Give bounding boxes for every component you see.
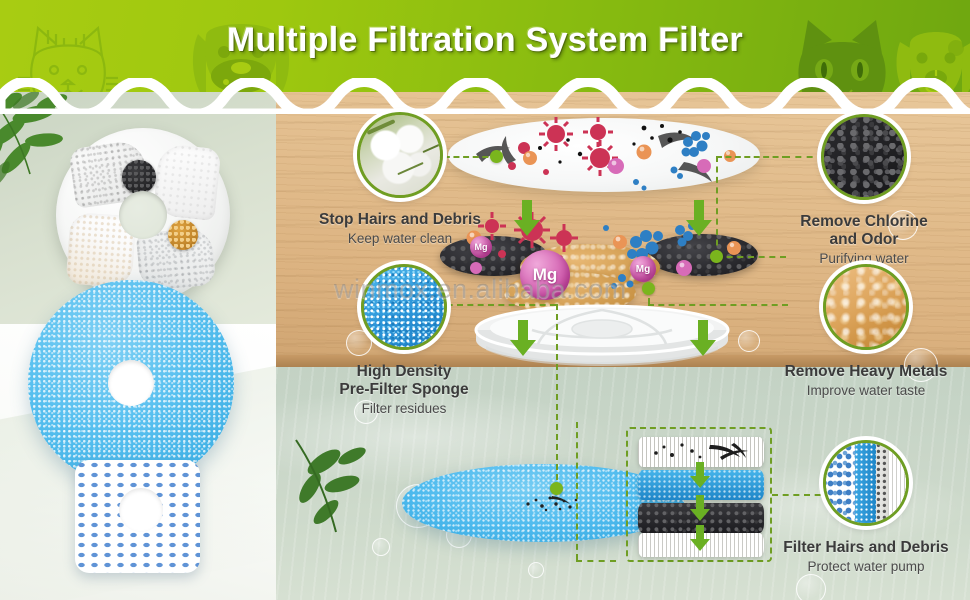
- flow-arrow-down-icon: [690, 320, 716, 356]
- connector-dot-mid-left: [550, 482, 563, 495]
- callout-subtitle: Protect water pump: [766, 559, 966, 575]
- callout-title: Filter Hairs and Debris: [766, 539, 966, 557]
- diagram-panel: Mg Mg Mg: [276, 92, 970, 600]
- pad-center-hole: [119, 488, 163, 532]
- infographic-root: Multiple Filtration System Filter: [0, 0, 970, 600]
- callout-remove-heavy-metals[interactable]: Remove Heavy Metals Improve water taste: [766, 264, 966, 399]
- wave-divider: [0, 78, 970, 114]
- filter-layers-icon: [823, 440, 909, 526]
- callout-title: High Density Pre-Filter Sponge: [304, 363, 504, 399]
- ion-resin-beads-icon: [823, 264, 909, 350]
- stack-arrow-icon: [690, 462, 710, 488]
- connector-bottom-left-v: [576, 422, 578, 560]
- blue-sponge-disc: [28, 280, 234, 486]
- round-filter-disc: [56, 128, 230, 302]
- filter-center-hole: [119, 191, 167, 239]
- cotton-fiber-icon: [357, 112, 443, 198]
- carbon-spot: [122, 160, 156, 194]
- sponge-center-hole: [108, 360, 154, 406]
- callout-title: Stop Hairs and Debris: [300, 211, 500, 229]
- product-photo-panel: [0, 92, 276, 600]
- resin-spot: [168, 220, 198, 250]
- stack-arrow-icon: [690, 495, 710, 521]
- callout-title: Remove Chlorine and Odor: [764, 213, 964, 249]
- debris-on-sponge: [522, 492, 582, 514]
- flow-arrow-down-icon: [510, 320, 536, 356]
- mineral-label: Mg: [636, 264, 650, 275]
- connector-dot-mid-right: [642, 282, 655, 295]
- flow-arrow-down-icon: [686, 200, 712, 236]
- callout-remove-chlorine-and-odor[interactable]: Remove Chlorine and Odor Purifying water: [764, 114, 964, 267]
- connector-dot-top-right: [710, 250, 723, 263]
- connector-top-right-v: [716, 156, 718, 256]
- honeycomb-pad: [75, 460, 200, 573]
- stack-arrow-icon: [690, 525, 710, 551]
- callout-title: Remove Heavy Metals: [766, 363, 966, 381]
- callout-filter-hairs-and-debris[interactable]: Filter Hairs and Debris Protect water pu…: [766, 440, 966, 575]
- activated-carbon-icon: [821, 114, 907, 200]
- connector-mid-left-v: [556, 304, 558, 490]
- callout-stop-hairs-and-debris[interactable]: Stop Hairs and Debris Keep water clean: [300, 112, 500, 247]
- water-leaf-icon: [290, 422, 420, 542]
- flow-arrow-down-icon: [514, 200, 540, 236]
- mineral-bubble-small-right: Mg: [630, 256, 656, 282]
- filter-layer-stack: [626, 427, 772, 562]
- connector-bottom-left-h: [576, 560, 616, 562]
- callout-subtitle: Filter residues: [304, 401, 504, 417]
- callout-subtitle: Keep water clean: [300, 231, 500, 247]
- callout-subtitle: Improve water taste: [766, 383, 966, 399]
- watermark: winmox.en.alibaba.com: [334, 274, 627, 305]
- page-title: Multiple Filtration System Filter: [0, 21, 970, 60]
